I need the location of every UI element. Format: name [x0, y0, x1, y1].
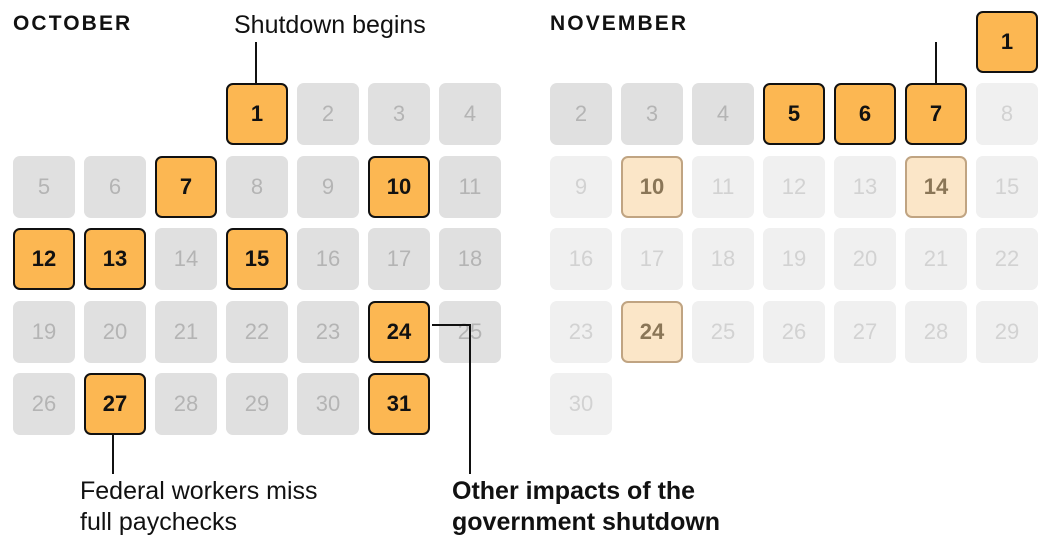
day-cell-november-29: 29: [976, 301, 1038, 363]
leader-line-shutdown-begins: [255, 42, 257, 83]
day-cell-november-17: 17: [621, 228, 683, 290]
day-cell-october-13: 13: [84, 228, 146, 290]
day-cell-october-31: 31: [368, 373, 430, 435]
day-cell-november-11: 11: [692, 156, 754, 218]
day-cell-october-3: 3: [368, 83, 430, 145]
day-cell-october-16: 16: [297, 228, 359, 290]
day-cell-november-14: 14: [905, 156, 967, 218]
day-cell-november-2: 2: [550, 83, 612, 145]
leader-line-november-seven: [935, 42, 937, 83]
day-cell-october-12: 12: [13, 228, 75, 290]
day-cell-october-6: 6: [84, 156, 146, 218]
leader-line-other-impacts-horizontal: [432, 324, 471, 326]
day-cell-october-27: 27: [84, 373, 146, 435]
day-cell-october-24: 24: [368, 301, 430, 363]
day-cell-november-9: 9: [550, 156, 612, 218]
day-cell-november-15: 15: [976, 156, 1038, 218]
day-cell-october-11: 11: [439, 156, 501, 218]
month-title-november: NOVEMBER: [550, 12, 688, 36]
day-cell-october-26: 26: [13, 373, 75, 435]
annotation-shutdown-begins: Shutdown begins: [234, 10, 426, 41]
day-cell-october-21: 21: [155, 301, 217, 363]
day-cell-october-1: 1: [226, 83, 288, 145]
day-cell-november-12: 12: [763, 156, 825, 218]
day-cell-november-10: 10: [621, 156, 683, 218]
day-cell-october-17: 17: [368, 228, 430, 290]
day-cell-november-23: 23: [550, 301, 612, 363]
day-cell-november-27: 27: [834, 301, 896, 363]
annotation-federal-workers: Federal workers miss full paychecks: [80, 476, 318, 537]
day-cell-november-3: 3: [621, 83, 683, 145]
leader-line-federal-workers: [112, 434, 114, 474]
day-cell-october-2: 2: [297, 83, 359, 145]
day-cell-october-18: 18: [439, 228, 501, 290]
day-cell-november-6: 6: [834, 83, 896, 145]
day-cell-november-1: 1: [976, 11, 1038, 73]
calendar-graphic: OCTOBER NOVEMBER 12345678910111213141516…: [0, 0, 1050, 551]
day-cell-november-25: 25: [692, 301, 754, 363]
day-cell-october-4: 4: [439, 83, 501, 145]
day-cell-october-28: 28: [155, 373, 217, 435]
day-cell-november-22: 22: [976, 228, 1038, 290]
annotation-other-impacts: Other impacts of the government shutdown: [452, 476, 720, 537]
day-cell-october-29: 29: [226, 373, 288, 435]
day-cell-november-18: 18: [692, 228, 754, 290]
day-cell-november-19: 19: [763, 228, 825, 290]
day-cell-october-9: 9: [297, 156, 359, 218]
month-title-october: OCTOBER: [13, 12, 132, 36]
day-cell-october-15: 15: [226, 228, 288, 290]
day-cell-november-28: 28: [905, 301, 967, 363]
day-cell-october-8: 8: [226, 156, 288, 218]
day-cell-october-30: 30: [297, 373, 359, 435]
day-cell-november-26: 26: [763, 301, 825, 363]
day-cell-october-5: 5: [13, 156, 75, 218]
day-cell-november-20: 20: [834, 228, 896, 290]
day-cell-october-22: 22: [226, 301, 288, 363]
day-cell-november-13: 13: [834, 156, 896, 218]
day-cell-november-7: 7: [905, 83, 967, 145]
day-cell-november-21: 21: [905, 228, 967, 290]
leader-line-other-impacts-vertical: [469, 324, 471, 474]
day-cell-november-24: 24: [621, 301, 683, 363]
day-cell-november-8: 8: [976, 83, 1038, 145]
day-cell-october-19: 19: [13, 301, 75, 363]
day-cell-november-4: 4: [692, 83, 754, 145]
day-cell-october-23: 23: [297, 301, 359, 363]
day-cell-november-30: 30: [550, 373, 612, 435]
day-cell-november-5: 5: [763, 83, 825, 145]
day-cell-november-16: 16: [550, 228, 612, 290]
day-cell-october-7: 7: [155, 156, 217, 218]
day-cell-october-14: 14: [155, 228, 217, 290]
day-cell-october-20: 20: [84, 301, 146, 363]
day-cell-october-10: 10: [368, 156, 430, 218]
